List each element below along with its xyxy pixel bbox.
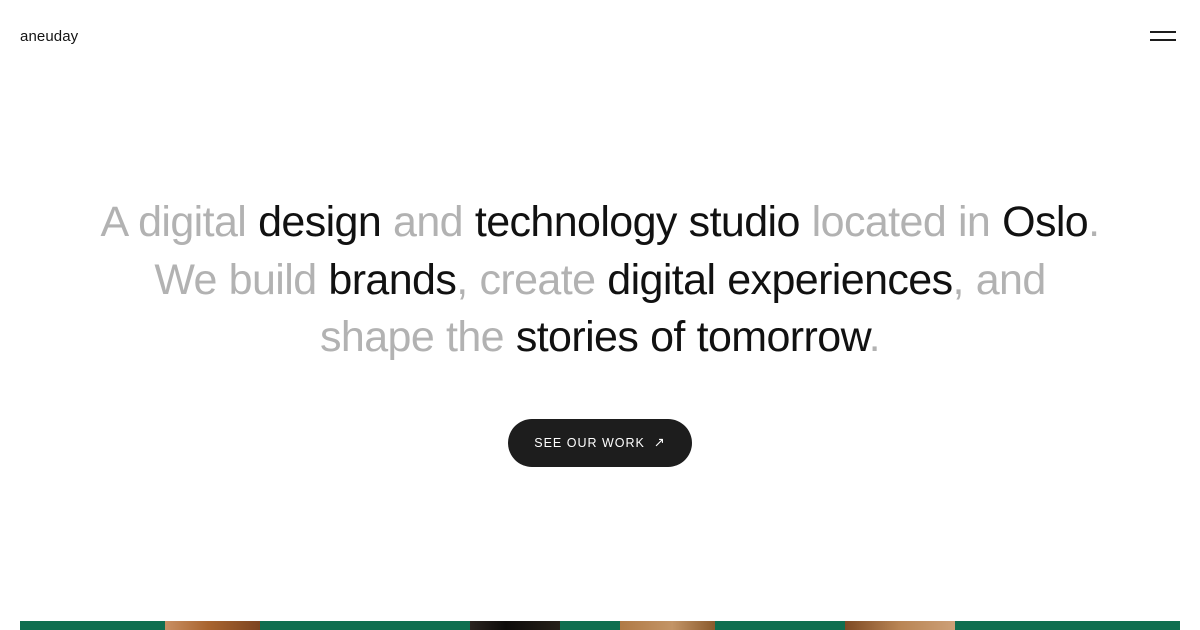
menu-bar-bottom bbox=[1150, 39, 1176, 41]
headline-segment: technology studio bbox=[475, 198, 812, 246]
gallery-card-1[interactable] bbox=[165, 621, 260, 630]
headline-segment: and bbox=[393, 198, 475, 246]
gallery-strip[interactable] bbox=[20, 621, 1180, 630]
headline-segment: design bbox=[258, 198, 393, 246]
arrow-up-right-icon: ↗ bbox=[654, 436, 666, 449]
see-our-work-label: SEE OUR WORK bbox=[534, 436, 645, 450]
hamburger-menu-icon[interactable] bbox=[1150, 28, 1176, 44]
headline-segment: digital experiences bbox=[607, 256, 952, 304]
hero-headline: A digital design and technology studio l… bbox=[95, 194, 1105, 367]
headline-segment: brands bbox=[328, 256, 456, 304]
site-header: aneuday bbox=[0, 0, 1200, 72]
brand-logo[interactable]: aneuday bbox=[20, 29, 78, 44]
headline-segment: , bbox=[456, 256, 479, 304]
gallery-card-3[interactable] bbox=[620, 621, 715, 630]
gallery-card-2[interactable] bbox=[470, 621, 560, 630]
hero-section: A digital design and technology studio l… bbox=[0, 72, 1200, 621]
cta-container: SEE OUR WORK ↗ bbox=[0, 419, 1200, 467]
gallery-gap bbox=[20, 621, 165, 630]
headline-segment: stories of tomorrow bbox=[516, 313, 869, 361]
see-our-work-button[interactable]: SEE OUR WORK ↗ bbox=[508, 419, 692, 467]
gallery-gap bbox=[560, 621, 620, 630]
headline-segment: A digital bbox=[101, 198, 259, 246]
headline-segment: Oslo bbox=[1002, 198, 1088, 246]
headline-segment: We build bbox=[154, 256, 328, 304]
gallery-gap bbox=[715, 621, 845, 630]
gallery-gap bbox=[260, 621, 470, 630]
gallery-card-4[interactable] bbox=[845, 621, 955, 630]
headline-segment: located in bbox=[812, 198, 1002, 246]
headline-segment: create bbox=[479, 256, 607, 304]
menu-bar-top bbox=[1150, 31, 1176, 33]
headline-segment: . bbox=[869, 313, 880, 361]
headline-segment: . bbox=[1088, 198, 1099, 246]
headline-segment: , bbox=[953, 256, 976, 304]
